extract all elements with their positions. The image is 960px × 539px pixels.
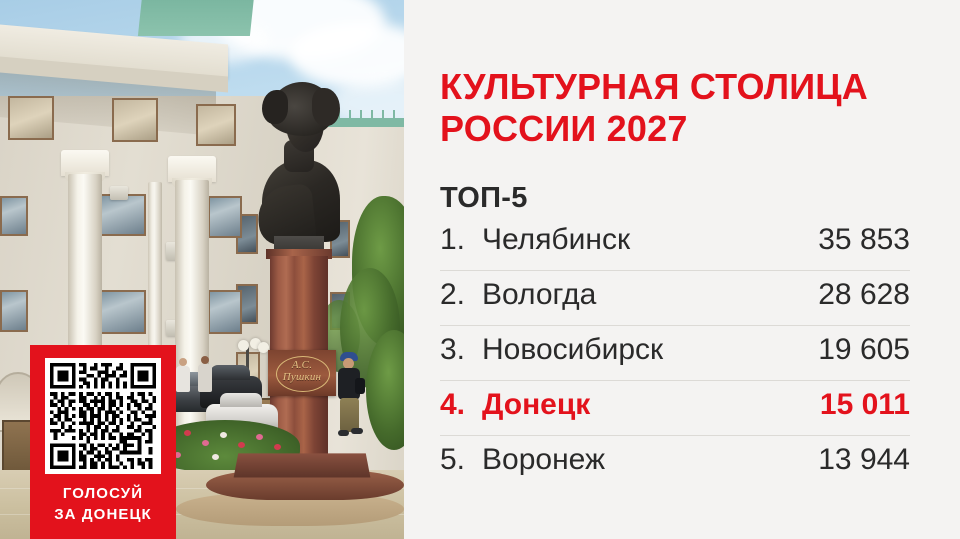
pedestrian-legs xyxy=(340,398,359,432)
rank-number: 5. xyxy=(440,436,482,484)
rank-number: 1. xyxy=(440,216,482,264)
monument-base-inner xyxy=(234,453,371,477)
window xyxy=(196,104,236,146)
pedestrian xyxy=(198,356,212,392)
ranking-list: 1. Челябинск 35 853 2. Вологда 28 628 3.… xyxy=(440,216,910,491)
page-title: КУЛЬТУРНАЯ СТОЛИЦА РОССИИ 2027 xyxy=(440,66,916,150)
flower xyxy=(274,444,281,450)
window xyxy=(8,96,54,140)
vote-count: 35 853 xyxy=(818,216,910,264)
window xyxy=(208,196,242,238)
vote-count: 28 628 xyxy=(818,271,910,319)
rank-number: 2. xyxy=(440,271,482,319)
section-subtitle: ТОП-5 xyxy=(440,182,528,215)
qr-code-container[interactable] xyxy=(45,358,161,474)
window xyxy=(112,98,158,142)
vote-count: 15 011 xyxy=(820,381,910,429)
qr-code-icon[interactable] xyxy=(50,363,156,469)
plaque-line-1: А.С. xyxy=(292,359,312,371)
content-panel: КУЛЬТУРНАЯ СТОЛИЦА РОССИИ 2027 ТОП-5 1. … xyxy=(404,0,960,539)
title-line-2: РОССИИ 2027 xyxy=(440,108,916,150)
slide-root: А.С. Пушкин xyxy=(0,0,960,539)
vote-badge-text: ГОЛОСУЙ ЗА ДОНЕЦК xyxy=(30,483,176,525)
pedestrian-body xyxy=(176,366,190,392)
window xyxy=(100,194,146,236)
window xyxy=(0,196,28,236)
table-row: 2. Вологда 28 628 xyxy=(440,271,910,326)
flower xyxy=(184,430,191,436)
flower xyxy=(220,432,227,438)
vote-line-2: ЗА ДОНЕЦК xyxy=(54,506,152,523)
pedestrian-shoe xyxy=(351,428,363,434)
pedestrian-bag xyxy=(355,378,365,394)
city-name: Челябинск xyxy=(482,216,818,264)
air-conditioner xyxy=(110,186,128,200)
window xyxy=(208,290,242,334)
table-row: 1. Челябинск 35 853 xyxy=(440,216,910,271)
flower xyxy=(212,454,219,460)
city-name: Вологда xyxy=(482,271,818,319)
flower xyxy=(238,442,245,448)
title-line-1: КУЛЬТУРНАЯ СТОЛИЦА xyxy=(440,66,916,108)
pedestrian-head xyxy=(179,358,187,366)
monument-plaque: А.С. Пушкин xyxy=(268,350,336,396)
flower xyxy=(202,440,209,446)
rank-number: 3. xyxy=(440,326,482,374)
pushkin-bust xyxy=(262,82,340,242)
window xyxy=(0,290,28,332)
vote-line-1: ГОЛОСУЙ xyxy=(63,485,143,502)
table-row: 3. Новосибирск 19 605 xyxy=(440,326,910,381)
column-capital xyxy=(61,150,109,176)
window xyxy=(100,290,146,334)
vote-count: 13 944 xyxy=(818,436,910,484)
table-row-highlighted: 4. Донецк 15 011 xyxy=(440,381,910,436)
city-name: Новосибирск xyxy=(482,326,818,374)
vote-badge[interactable]: ГОЛОСУЙ ЗА ДОНЕЦК xyxy=(30,345,176,539)
photo-panel: А.С. Пушкин xyxy=(0,0,404,539)
city-name: Воронеж xyxy=(482,436,818,484)
table-row: 5. Воронеж 13 944 xyxy=(440,436,910,491)
pedestrian-body xyxy=(198,364,212,392)
pedestrian xyxy=(176,358,190,392)
column-capital xyxy=(168,156,216,182)
rank-number: 4. xyxy=(440,381,482,429)
pedestrian-walking xyxy=(336,352,366,438)
bust-hair xyxy=(268,82,334,136)
plaque-text: А.С. Пушкин xyxy=(268,359,336,383)
pedestrian-shoe xyxy=(338,430,349,436)
vote-count: 19 605 xyxy=(818,326,910,374)
lamp-globe-icon xyxy=(238,340,249,351)
flower xyxy=(256,434,263,440)
city-name: Донецк xyxy=(482,381,820,429)
pedestrian-head xyxy=(201,356,209,364)
roof-green-top xyxy=(138,0,254,36)
plaque-line-2: Пушкин xyxy=(283,371,321,383)
